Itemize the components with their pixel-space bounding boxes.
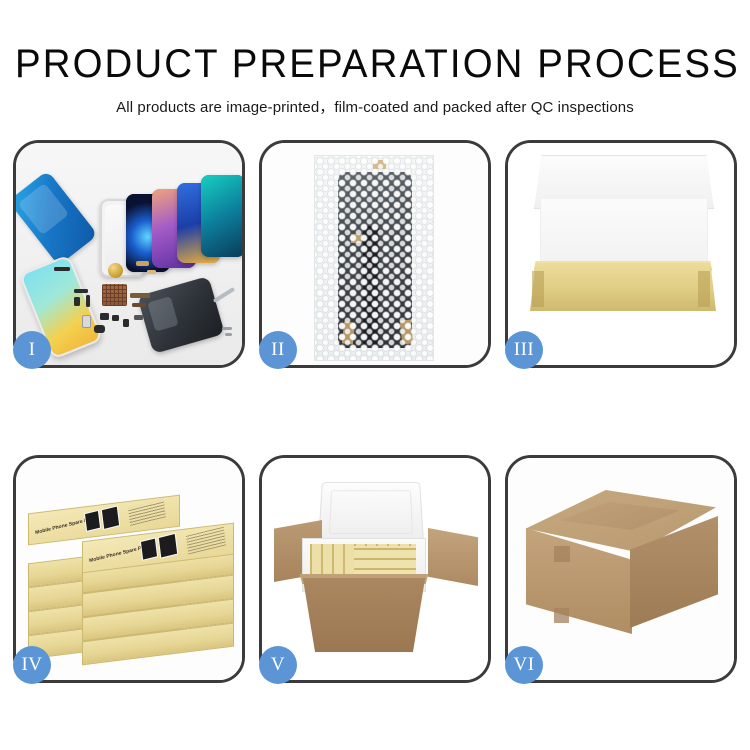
carton-flap-right bbox=[428, 528, 478, 586]
step-6-image bbox=[508, 458, 734, 680]
chip-array-part bbox=[102, 284, 127, 306]
outer-carton-open bbox=[296, 578, 432, 652]
kraft-inner-box bbox=[530, 263, 716, 311]
carton-tape-lower bbox=[554, 608, 569, 623]
step-badge-5: V bbox=[259, 646, 297, 684]
carton-tape-upper bbox=[554, 546, 570, 562]
step-panel-4: Mobile Phone Spare Parts Mobile Phone Sp… bbox=[13, 455, 245, 683]
step-panel-6: VI bbox=[505, 455, 737, 683]
step-badge-6: VI bbox=[505, 646, 543, 684]
step-badge-2: II bbox=[259, 331, 297, 369]
step-2-image bbox=[262, 143, 488, 365]
page-subtitle: All products are image-printed，film-coat… bbox=[0, 96, 750, 117]
step-panel-3: III bbox=[505, 140, 737, 368]
step-badge-1: I bbox=[13, 331, 51, 369]
step-badge-3: III bbox=[505, 331, 543, 369]
product-preparation-infographic: PRODUCT PREPARATION PROCESS All products… bbox=[0, 0, 750, 750]
step-4-image: Mobile Phone Spare Parts Mobile Phone Sp… bbox=[16, 458, 242, 680]
header: PRODUCT PREPARATION PROCESS All products… bbox=[0, 0, 750, 117]
bubble-wrap-bag bbox=[314, 155, 434, 361]
page-title: PRODUCT PREPARATION PROCESS bbox=[15, 44, 735, 84]
process-steps-grid: I II bbox=[13, 140, 737, 688]
step-panel-2: II bbox=[259, 140, 491, 368]
step-panel-1: I bbox=[13, 140, 245, 368]
vibration-motor-part bbox=[108, 263, 123, 278]
step-1-image bbox=[16, 143, 242, 365]
phone-screen-teal bbox=[201, 175, 242, 257]
step-3-image bbox=[508, 143, 734, 365]
step-badge-4: IV bbox=[13, 646, 51, 684]
box-liner bbox=[540, 199, 708, 271]
bubble-texture bbox=[315, 156, 433, 360]
stacked-boxes: Mobile Phone Spare Parts Mobile Phone Sp… bbox=[24, 476, 242, 670]
step-5-image bbox=[262, 458, 488, 680]
step-panel-5: V bbox=[259, 455, 491, 683]
foam-lid bbox=[318, 482, 424, 544]
